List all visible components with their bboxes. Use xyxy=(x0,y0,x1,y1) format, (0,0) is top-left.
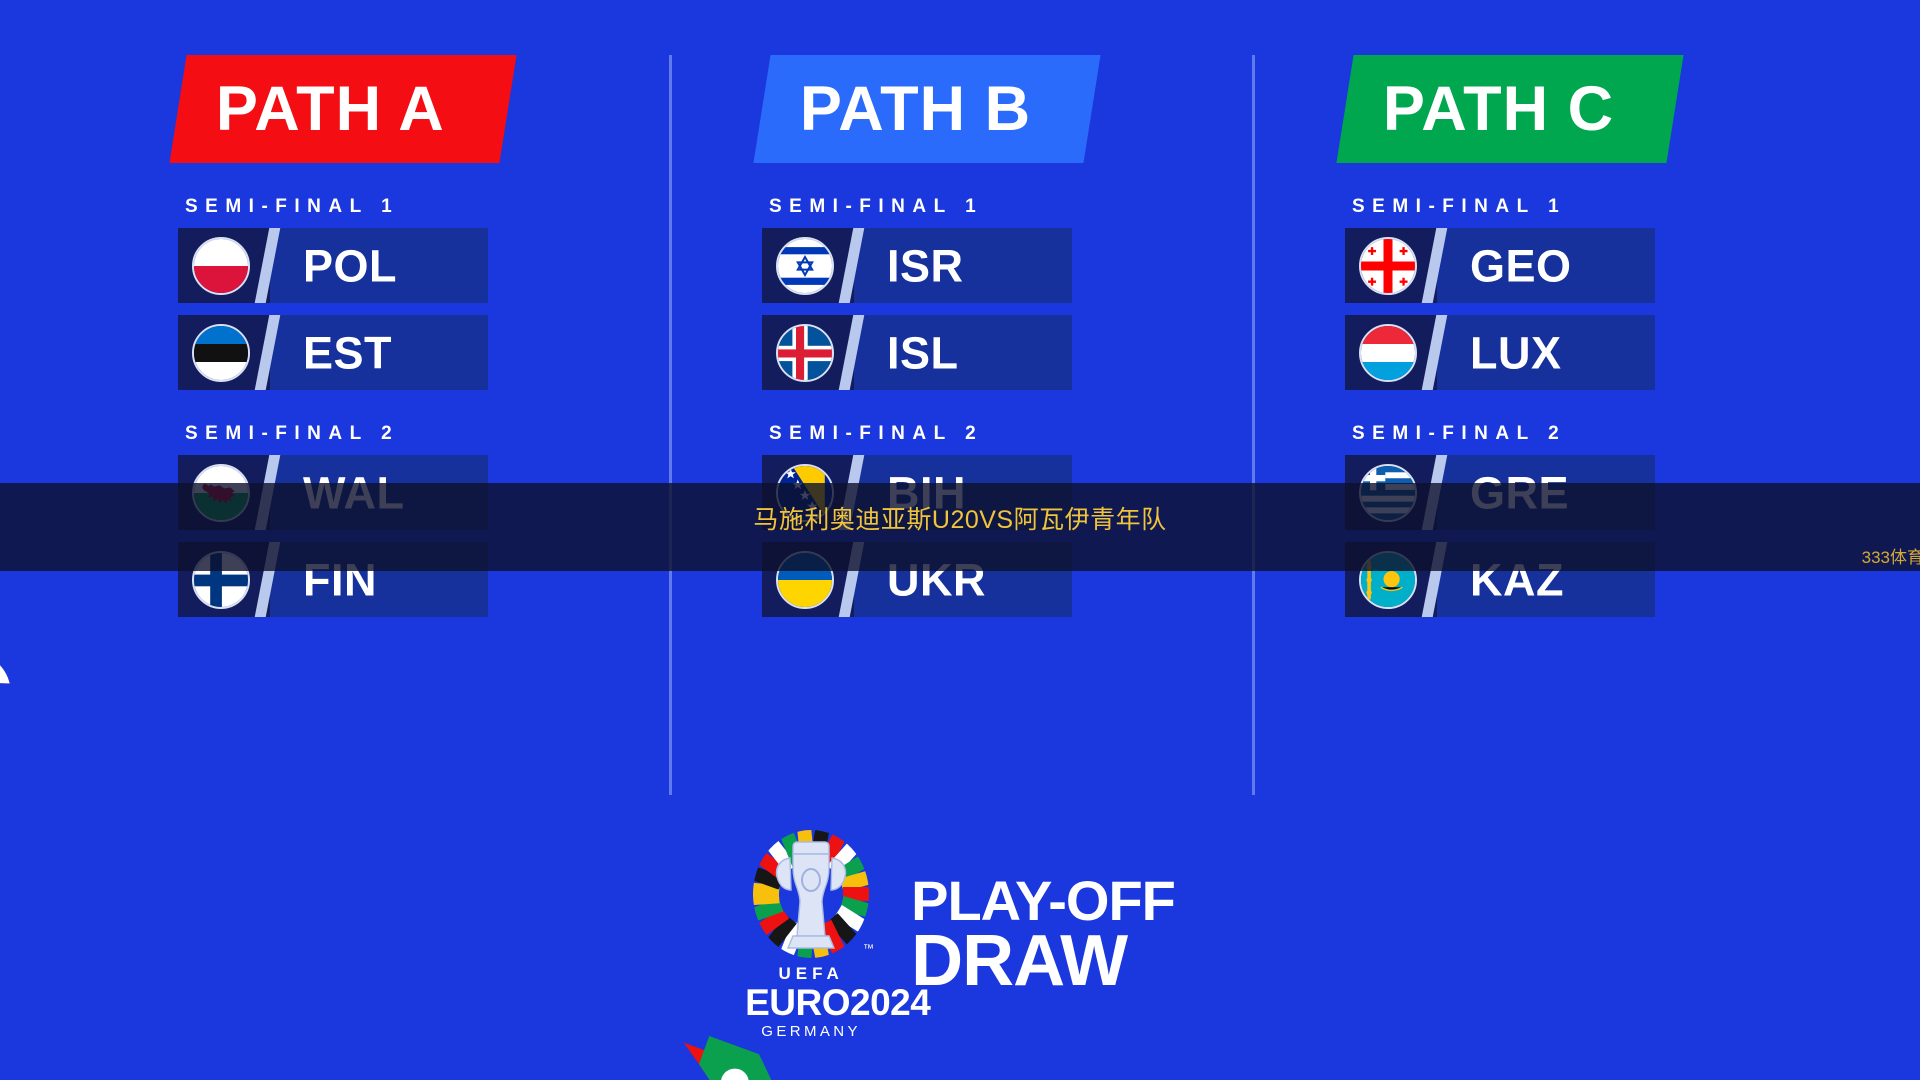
path-header-a: PATH A xyxy=(169,55,516,163)
overlay-banner-text: 马施利奥迪亚斯U20VS阿瓦伊青年队 xyxy=(753,500,1166,536)
team-code: LUX xyxy=(1470,330,1562,375)
poland-flag-icon xyxy=(192,237,250,295)
team-row[interactable]: GEO xyxy=(1345,228,1655,303)
path-column-b: PATH BSEMI-FINAL 1 ISR ISLSEMI-FINAL 2 B… xyxy=(640,0,1280,790)
path-header-label: PATH C xyxy=(1383,78,1614,141)
overlay-watermark: 333体育 xyxy=(1862,543,1920,568)
path-header-b: PATH B xyxy=(753,55,1100,163)
team-row[interactable]: POL xyxy=(178,228,488,303)
israel-flag-icon xyxy=(776,237,834,295)
team-code: GEO xyxy=(1470,243,1572,288)
team-code: ISR xyxy=(887,243,964,288)
logo-euro-text: EURO2024 xyxy=(745,984,877,1022)
path-header-label: PATH B xyxy=(800,78,1031,141)
path-header-label: PATH A xyxy=(216,78,445,141)
logo-uefa-text: UEFA xyxy=(745,964,877,984)
path-column-a: PATH ASEMI-FINAL 1POLESTSEMI-FINAL 2 WAL… xyxy=(0,0,640,790)
semifinal-label: SEMI-FINAL 2 xyxy=(1352,423,1675,445)
team-code: EST xyxy=(303,330,392,375)
playoff-title-line2: DRAW xyxy=(911,927,1175,996)
luxembourg-flag-icon xyxy=(1359,324,1417,382)
uefa-euro-trophy-icon: ™ xyxy=(745,828,877,966)
uefa-euro-2024-logo: ™ UEFA EURO2024 GERMANY xyxy=(745,828,877,1043)
playoff-title-line1: PLAY-OFF xyxy=(911,874,1175,928)
team-code: POL xyxy=(303,243,397,288)
svg-text:™: ™ xyxy=(863,943,874,955)
path-header-c: PATH C xyxy=(1336,55,1683,163)
team-row[interactable]: LUX xyxy=(1345,315,1655,390)
semifinal-label: SEMI-FINAL 1 xyxy=(185,196,508,218)
path-column-c: PATH CSEMI-FINAL 1 GEOLUXSEMI-FINAL 2 GR… xyxy=(1280,0,1920,790)
semifinal-label: SEMI-FINAL 2 xyxy=(185,423,508,445)
paths-container: PATH ASEMI-FINAL 1POLESTSEMI-FINAL 2 WAL… xyxy=(0,0,1920,790)
logo-country-text: GERMANY xyxy=(745,1023,877,1040)
estonia-flag-icon xyxy=(192,324,250,382)
playoff-draw-title: PLAY-OFF DRAW xyxy=(911,874,1175,997)
team-code: ISL xyxy=(887,330,959,375)
footer-logo-block: ™ UEFA EURO2024 GERMANY PLAY-OFF DRAW xyxy=(0,820,1920,1050)
team-row[interactable]: ISL xyxy=(762,315,1072,390)
semifinal-label: SEMI-FINAL 1 xyxy=(1352,196,1675,218)
team-row[interactable]: ISR xyxy=(762,228,1072,303)
semifinal-label: SEMI-FINAL 1 xyxy=(769,196,1092,218)
semifinal-label: SEMI-FINAL 2 xyxy=(769,423,1092,445)
iceland-flag-icon xyxy=(776,324,834,382)
georgia-flag-icon xyxy=(1359,237,1417,295)
team-row[interactable]: EST xyxy=(178,315,488,390)
